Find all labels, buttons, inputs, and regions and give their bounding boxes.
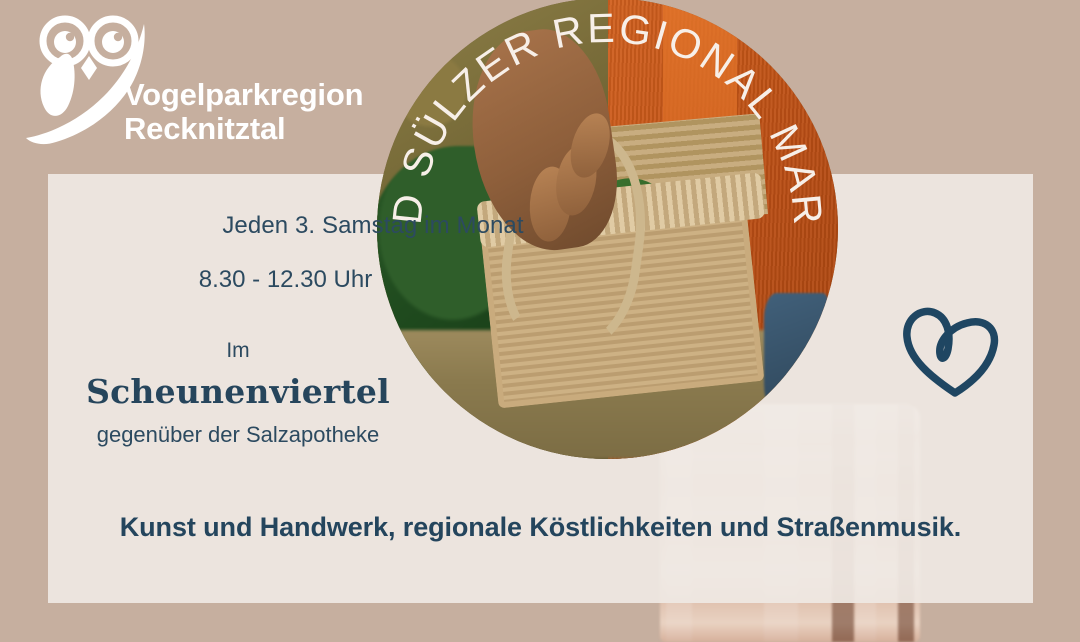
owl-icon [20,10,170,150]
location-name-text: Scheunenviertel [48,372,428,411]
brand-line-2: Recknitztal [124,112,363,146]
brand-line-1: Vogelparkregion [124,78,363,112]
panel-text-group: Jeden 3. Samstag im Monat 8.30 - 12.30 U… [48,174,1033,603]
brand-logo-text: Vogelparkregion Recknitztal [124,78,363,146]
location-prefix-text: Im [48,339,428,363]
schedule-time-text: 8.30 - 12.30 Uhr [48,266,523,294]
poster: BAD SÜLZER REGIONAL MARKT Jeden 3. Samst… [0,0,1080,642]
location-detail-text: gegenüber der Salzapotheke [48,422,428,448]
heart-icon [895,297,1005,399]
schedule-day-text: Jeden 3. Samstag im Monat [48,212,698,240]
tagline-text: Kunst und Handwerk, regionale Köstlichke… [48,512,1033,543]
brand-logo: Vogelparkregion Recknitztal [14,8,414,158]
